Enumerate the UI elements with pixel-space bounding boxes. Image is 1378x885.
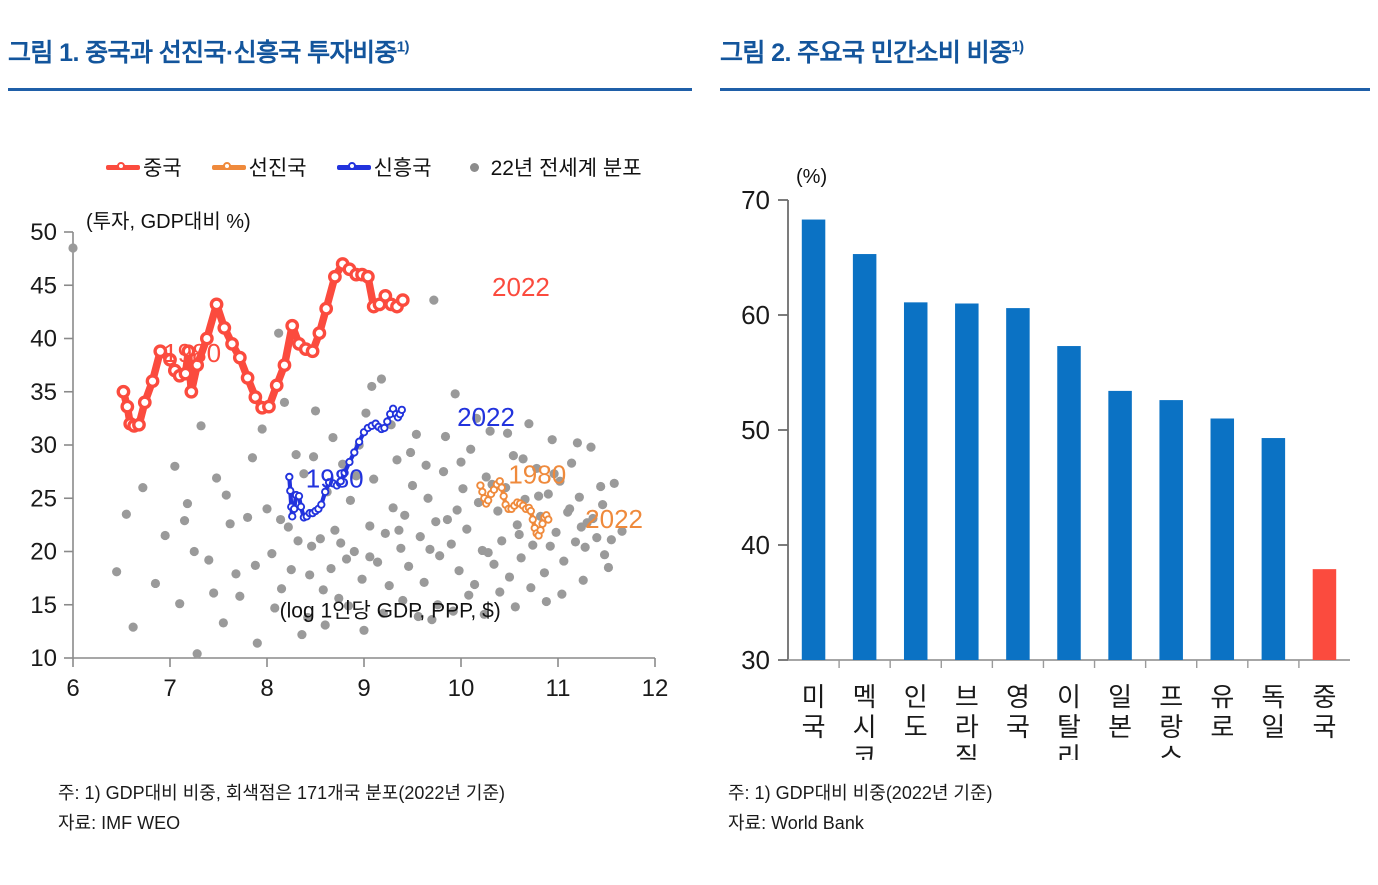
svg-text:일: 일	[1261, 712, 1285, 742]
bar-일본	[1108, 391, 1132, 660]
figure-1-panel: 그림 1. 중국과 선진국·신흥국 투자비중1) 중국 선진국 신흥국	[0, 0, 700, 885]
figure-1-legend: 중국 선진국 신흥국 22년 전세계 분포	[106, 152, 642, 182]
svg-text:이: 이	[1057, 682, 1081, 712]
svg-text:40: 40	[30, 326, 57, 353]
svg-text:40: 40	[741, 530, 770, 560]
svg-text:스: 스	[1159, 742, 1183, 760]
line-marker-icon	[106, 161, 140, 173]
legend-item-emerging[interactable]: 신흥국	[337, 152, 432, 182]
svg-text:2022: 2022	[492, 272, 550, 302]
svg-text:20: 20	[30, 539, 57, 566]
svg-text:코: 코	[853, 742, 877, 760]
bar-중국	[1313, 569, 1337, 660]
svg-text:멕: 멕	[853, 682, 877, 712]
figure-2-source: 자료: World Bank	[728, 810, 864, 838]
legend-item-world-distribution[interactable]: 22년 전세계 분포	[470, 152, 642, 182]
svg-text:브: 브	[955, 682, 979, 712]
svg-text:시: 시	[853, 712, 877, 742]
legend-label-advanced: 선진국	[249, 152, 307, 182]
svg-text:15: 15	[30, 592, 57, 619]
svg-text:영: 영	[1006, 682, 1030, 712]
legend-item-china[interactable]: 중국	[106, 152, 182, 182]
svg-text:2022: 2022	[585, 504, 643, 534]
figure-2-panel: 그림 2. 주요국 민간소비 비중1) (%) 3040506070미국멕시코인…	[700, 0, 1378, 885]
svg-text:로: 로	[1210, 712, 1234, 742]
svg-text:미: 미	[802, 682, 826, 712]
svg-text:탈: 탈	[1057, 712, 1081, 742]
line-marker-icon	[212, 161, 246, 173]
svg-text:25: 25	[30, 485, 57, 512]
figure-2-title-footnote-marker: 1)	[1011, 39, 1023, 56]
svg-text:(log 1인당 GDP, PPP, $): (log 1인당 GDP, PPP, $)	[280, 600, 501, 623]
svg-text:12: 12	[642, 675, 669, 702]
svg-text:국: 국	[1312, 712, 1336, 742]
legend-label-world-distribution: 22년 전세계 분포	[491, 152, 642, 182]
svg-text:2022: 2022	[457, 402, 515, 432]
line-marker-icon	[337, 161, 371, 173]
figure-1-title-rule	[8, 88, 692, 91]
svg-text:본: 본	[1108, 712, 1132, 742]
svg-text:국: 국	[1006, 712, 1030, 742]
svg-text:60: 60	[741, 300, 770, 330]
svg-text:45: 45	[30, 272, 57, 299]
figure-1-title-footnote-marker: 1)	[397, 39, 409, 56]
legend-label-china: 중국	[143, 152, 182, 182]
figures-page: 그림 1. 중국과 선진국·신흥국 투자비중1) 중국 선진국 신흥국	[0, 0, 1378, 885]
svg-text:1980: 1980	[508, 459, 566, 489]
svg-text:랑: 랑	[1159, 712, 1183, 742]
bar-멕시코	[853, 254, 877, 660]
svg-text:35: 35	[30, 379, 57, 406]
svg-text:10: 10	[448, 675, 475, 702]
figure-1-title-text: 그림 1. 중국과 선진국·신흥국 투자비중	[8, 39, 397, 67]
grey-dot-icon	[470, 163, 479, 172]
bar-영국	[1006, 308, 1030, 660]
svg-text:유: 유	[1210, 682, 1234, 712]
figure-2-title-rule	[720, 88, 1370, 91]
figure-2-title-text: 그림 2. 주요국 민간소비 비중	[720, 39, 1011, 67]
figure-2-bar-chart: 3040506070미국멕시코인도브라질영국이탈리아일본프랑스유로독일중국	[700, 180, 1378, 760]
svg-text:1980: 1980	[163, 338, 221, 368]
svg-text:50: 50	[30, 219, 57, 246]
svg-text:도: 도	[904, 712, 928, 742]
figure-1-note: 주: 1) GDP대비 비중, 회색점은 171개국 분포(2022년 기준)	[58, 780, 505, 808]
svg-text:7: 7	[163, 675, 176, 702]
svg-text:6: 6	[66, 675, 79, 702]
svg-text:인: 인	[904, 682, 928, 712]
svg-text:9: 9	[357, 675, 370, 702]
svg-text:일: 일	[1108, 682, 1132, 712]
bar-유로	[1211, 419, 1235, 661]
figure-1-title: 그림 1. 중국과 선진국·신흥국 투자비중1)	[8, 33, 409, 69]
svg-text:8: 8	[260, 675, 273, 702]
legend-label-emerging: 신흥국	[374, 152, 432, 182]
figure-2-note: 주: 1) GDP대비 비중(2022년 기준)	[728, 780, 993, 808]
bar-브라질	[955, 304, 979, 661]
svg-text:30: 30	[30, 432, 57, 459]
figure-2-title: 그림 2. 주요국 민간소비 비중1)	[720, 33, 1024, 69]
bar-미국	[802, 220, 826, 660]
legend-item-advanced[interactable]: 선진국	[212, 152, 307, 182]
svg-text:11: 11	[546, 675, 571, 702]
bar-독일	[1262, 438, 1286, 660]
svg-text:국: 국	[802, 712, 826, 742]
bar-이탈리아	[1057, 346, 1081, 660]
svg-text:30: 30	[741, 645, 770, 675]
svg-text:1980: 1980	[306, 464, 364, 494]
svg-text:50: 50	[741, 415, 770, 445]
svg-text:리: 리	[1057, 742, 1081, 760]
figure-1-source: 자료: IMF WEO	[58, 810, 180, 838]
bar-인도	[904, 302, 928, 660]
bar-프랑스	[1159, 400, 1183, 660]
svg-text:프: 프	[1159, 682, 1183, 712]
svg-text:질: 질	[955, 742, 979, 760]
figure-1-scatter-chart: 1015202530354045506789101112198020221980…	[0, 190, 700, 710]
svg-text:라: 라	[955, 712, 979, 742]
svg-text:10: 10	[30, 645, 57, 672]
svg-text:중: 중	[1312, 682, 1336, 712]
svg-text:독: 독	[1261, 682, 1285, 712]
svg-text:70: 70	[741, 185, 770, 215]
